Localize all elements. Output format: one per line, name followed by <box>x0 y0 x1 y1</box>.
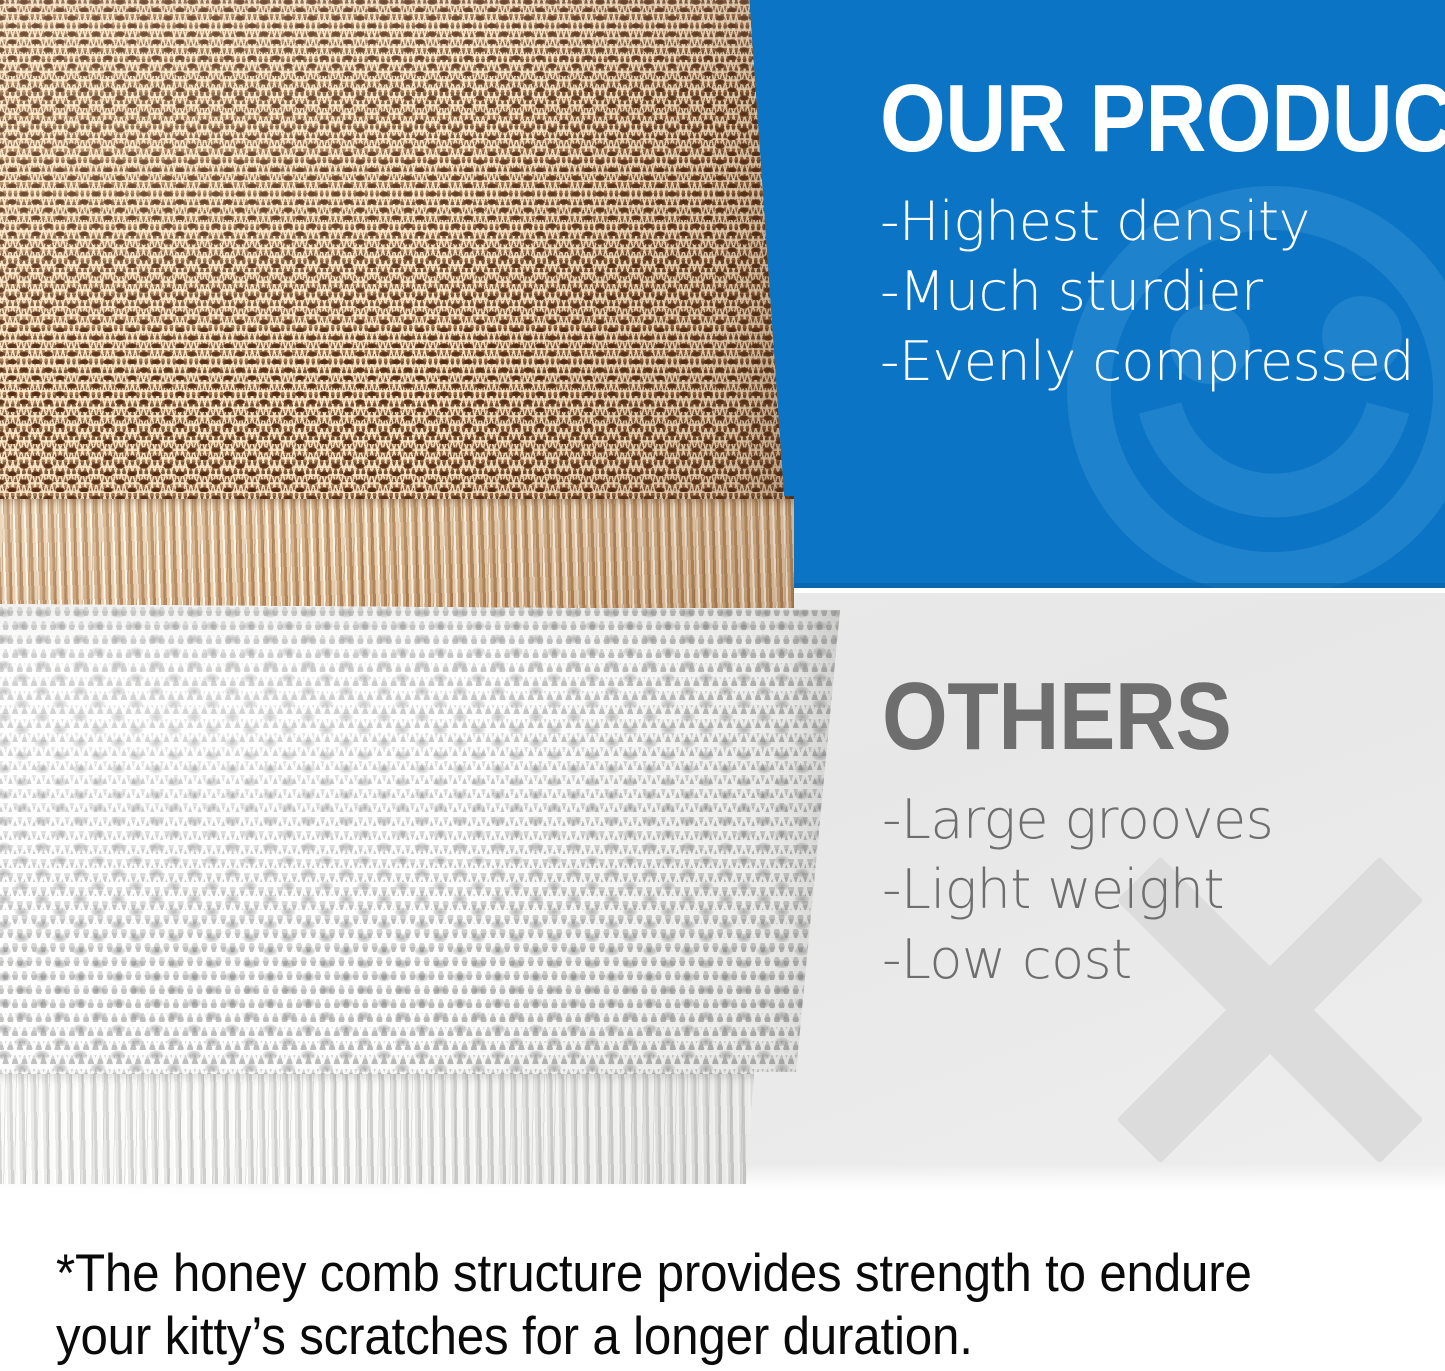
others-text-block: OTHERS -Large grooves -Light weight -Low… <box>882 676 1279 995</box>
others-bullet-list: -Large grooves -Light weight -Low cost <box>882 785 1279 996</box>
our-product-bullet-1: -Highest density <box>880 187 1445 257</box>
infographic-canvas: OUR PRODUCT -Highest density -Much sturd… <box>0 0 1445 1371</box>
product-honeycomb-top-face <box>0 0 794 501</box>
our-product-bullet-2: -Much sturdier <box>880 257 1445 327</box>
others-sample-image <box>0 604 850 1184</box>
others-heading: OTHERS <box>882 676 1231 759</box>
others-bullet-1: -Large grooves <box>882 785 1279 855</box>
our-product-text-block: OUR PRODUCT -Highest density -Much sturd… <box>880 78 1445 397</box>
our-product-heading: OUR PRODUCT <box>880 78 1445 161</box>
footnote-caption: *The honey comb structure provides stren… <box>56 1243 1307 1368</box>
our-product-bullet-3: -Evenly compressed <box>880 327 1445 397</box>
others-honeycomb-side-edge <box>0 1074 764 1184</box>
product-sample-image <box>0 0 794 608</box>
others-bullet-2: -Light weight <box>882 855 1279 925</box>
others-bullet-3: -Low cost <box>882 925 1279 995</box>
our-product-bullet-list: -Highest density -Much sturdier -Evenly … <box>880 187 1445 398</box>
product-honeycomb-side-edge <box>0 499 794 608</box>
others-honeycomb-top-face <box>0 604 850 1076</box>
